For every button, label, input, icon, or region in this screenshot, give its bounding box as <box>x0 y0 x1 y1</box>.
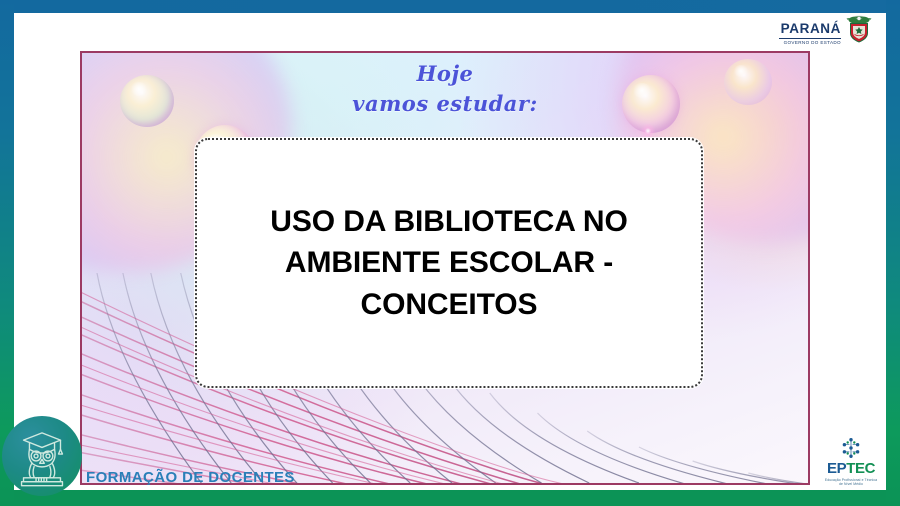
script-heading: Hoje vamos estudar: <box>82 61 808 121</box>
eptec-wordmark-right: TEC <box>846 460 875 477</box>
footer-label: FORMAÇÃO DE DOCENTES <box>86 469 295 486</box>
parana-text-block: PARANÁ GOVERNO DO ESTADO <box>779 14 841 45</box>
eptec-tagline-line-2: de Nível Médio <box>825 482 877 486</box>
script-heading-line-1: Hoje <box>82 61 808 87</box>
title-card: USO DA BIBLIOTECA NO AMBIENTE ESCOLAR - … <box>195 138 703 388</box>
frame-border-bottom <box>0 490 900 506</box>
formacao-docentes-logo <box>2 416 82 496</box>
owl-graduate-icon <box>9 423 75 489</box>
eptec-wordmark: EPTEC <box>827 461 875 476</box>
page-title: USO DA BIBLIOTECA NO AMBIENTE ESCOLAR - … <box>197 201 701 324</box>
eptec-tagline: Educação Profissional e Técnica de Nível… <box>825 478 877 487</box>
eptec-logo: EPTEC Educação Profissional e Técnica de… <box>820 437 882 487</box>
parana-divider-rule <box>779 38 841 40</box>
frame-border-right <box>886 0 900 506</box>
header-bar: PARANÁ GOVERNO DO ESTADO <box>14 13 886 51</box>
parana-government-logo: PARANÁ GOVERNO DO ESTADO <box>779 14 872 45</box>
parana-coat-of-arms-icon <box>846 14 872 44</box>
slide-canvas: Hoje vamos estudar: USO DA BIBLIOTECA NO… <box>80 51 810 485</box>
eptec-network-icon <box>840 437 862 459</box>
parana-wordmark: PARANÁ <box>781 22 841 36</box>
script-heading-line-2: vamos estudar: <box>82 87 808 121</box>
slide-page: PARANÁ GOVERNO DO ESTADO <box>0 0 900 506</box>
bubble-sparkle-2 <box>640 123 656 139</box>
eptec-wordmark-left: EP <box>827 460 846 477</box>
parana-subtitle: GOVERNO DO ESTADO <box>784 41 841 46</box>
frame-border-top <box>0 0 900 13</box>
